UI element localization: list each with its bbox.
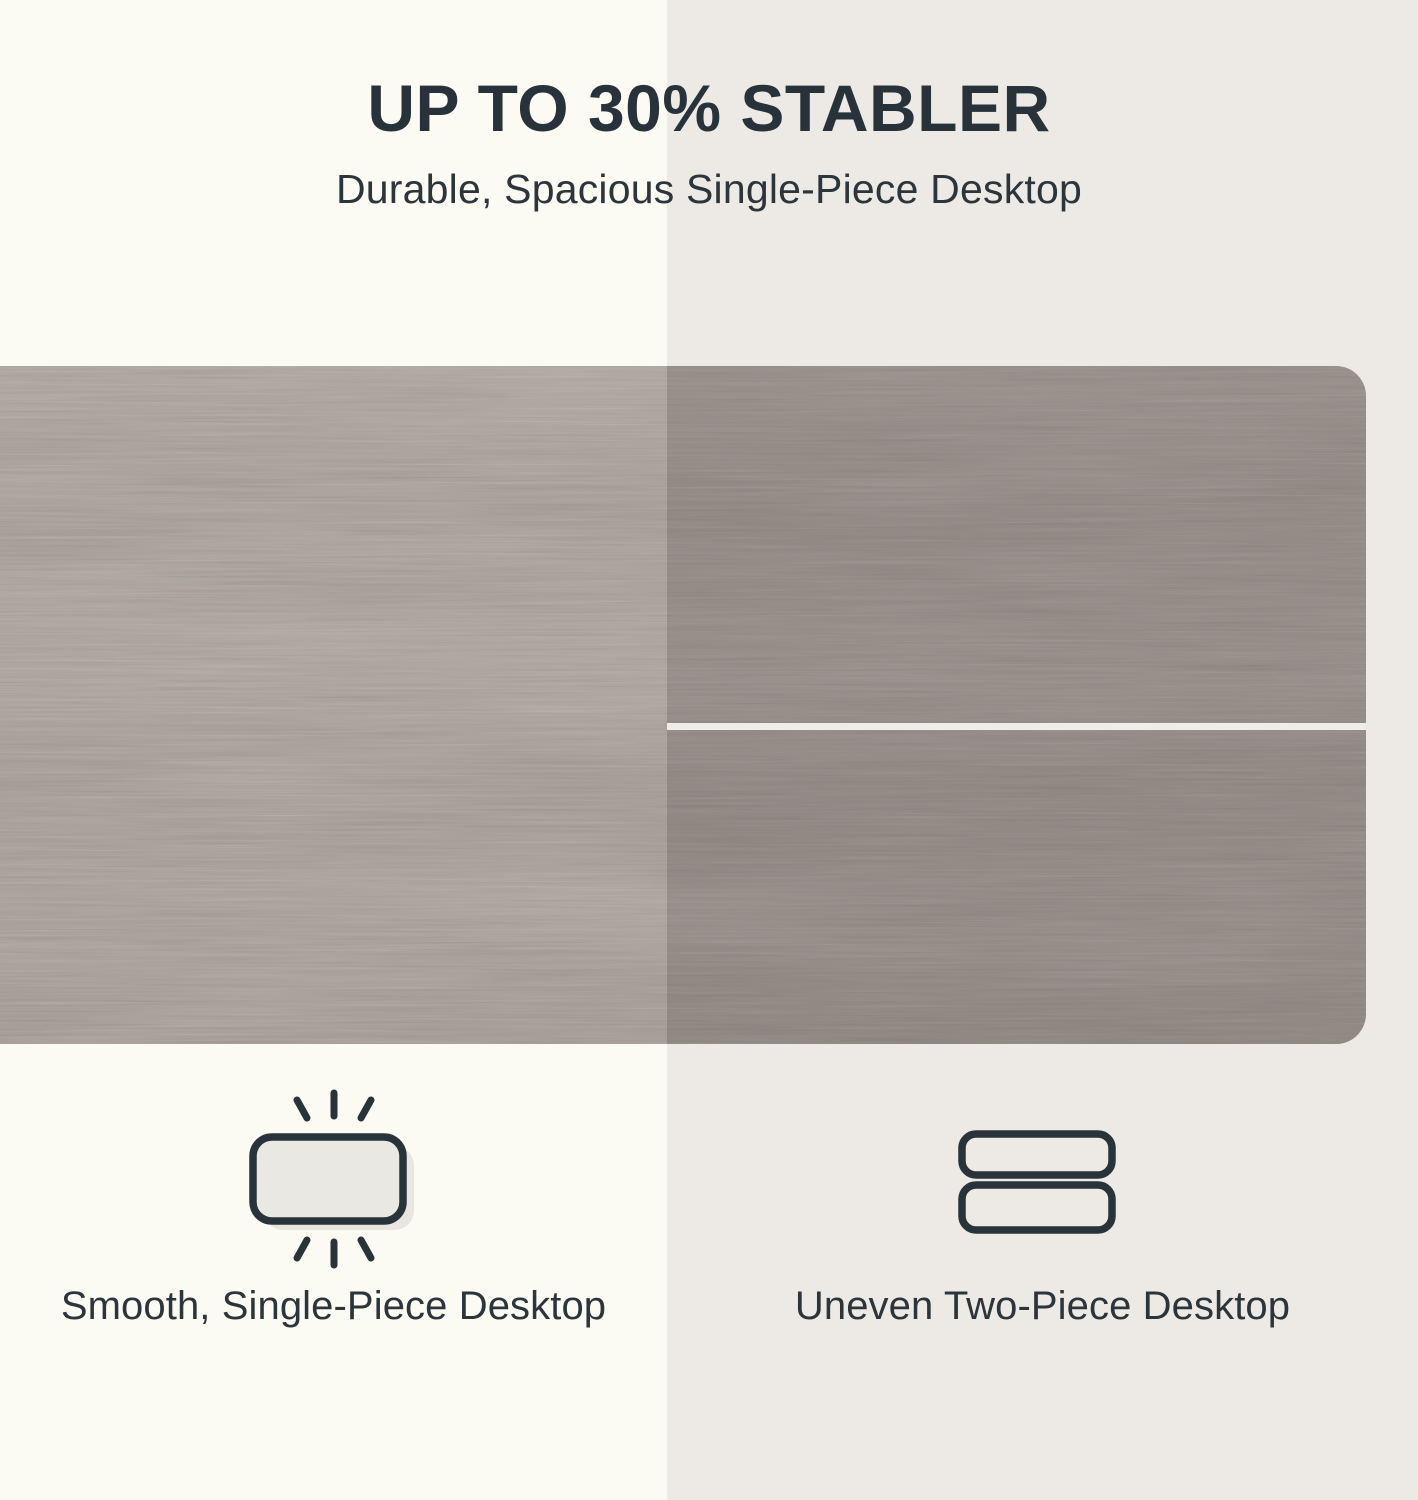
product-comparison-image: UP TO 30% STABLER Durable, Spacious Sing… <box>0 0 1418 1500</box>
desktop-slab-upper <box>962 1134 1112 1175</box>
desktop-slab <box>253 1137 403 1221</box>
two-piece-icon-slot <box>943 1085 1143 1280</box>
sparkle-lines-bottom <box>297 1240 371 1265</box>
desktop-seam-line <box>667 723 1366 730</box>
desktop-slab-lower <box>962 1185 1112 1230</box>
desktop-surface-image <box>0 366 1366 1044</box>
single-piece-desktop-icon <box>234 1088 434 1278</box>
comparison-columns: Smooth, Single-Piece Desktop Uneven Two-… <box>0 1085 1418 1445</box>
sparkle-lines-top <box>297 1093 371 1118</box>
single-piece-icon-slot <box>234 1085 434 1280</box>
desktop-right-half-shade <box>667 366 1366 1044</box>
two-piece-desktop-icon <box>943 1088 1143 1278</box>
comparison-column-single-piece: Smooth, Single-Piece Desktop <box>0 1085 667 1445</box>
two-piece-caption: Uneven Two-Piece Desktop <box>795 1280 1290 1333</box>
single-piece-caption: Smooth, Single-Piece Desktop <box>61 1280 606 1333</box>
comparison-column-two-piece: Uneven Two-Piece Desktop <box>667 1085 1418 1445</box>
